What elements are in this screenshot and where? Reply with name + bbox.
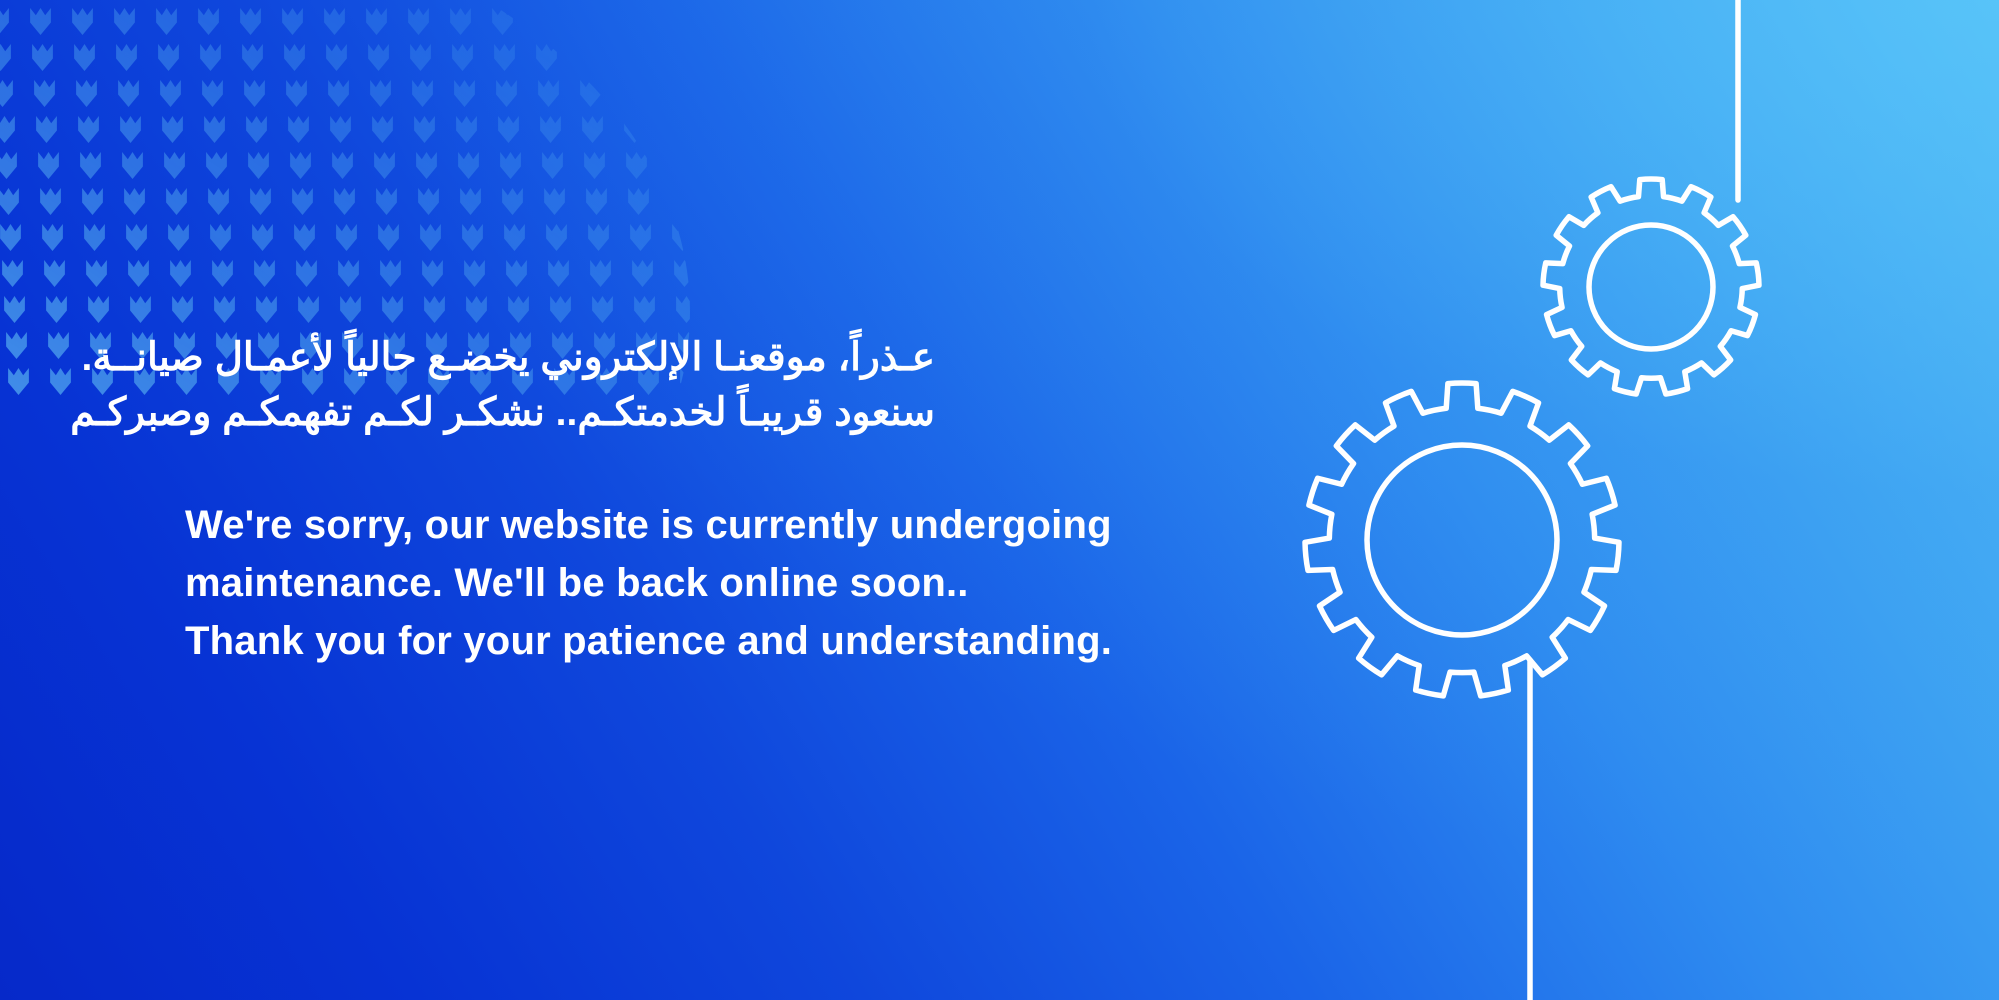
english-line-1: We're sorry, our website is currently un…: [185, 496, 1185, 554]
arabic-message: عـذراً، موقعنـا الإلكتروني يخضـع حالياً …: [0, 330, 935, 441]
english-line-2: maintenance. We'll be back online soon..: [185, 554, 1185, 612]
arabic-line-2: سنعود قريبـاً لخدمتكـم.. نشكـر لكـم تفهم…: [0, 385, 935, 440]
message-block: عـذراً، موقعنـا الإلكتروني يخضـع حالياً …: [185, 330, 1185, 670]
maintenance-page: عـذراً، موقعنـا الإلكتروني يخضـع حالياً …: [0, 0, 1999, 1000]
english-message: We're sorry, our website is currently un…: [185, 496, 1185, 670]
english-line-3: Thank you for your patience and understa…: [185, 612, 1185, 670]
arabic-line-1: عـذراً، موقعنـا الإلكتروني يخضـع حالياً …: [0, 330, 935, 385]
